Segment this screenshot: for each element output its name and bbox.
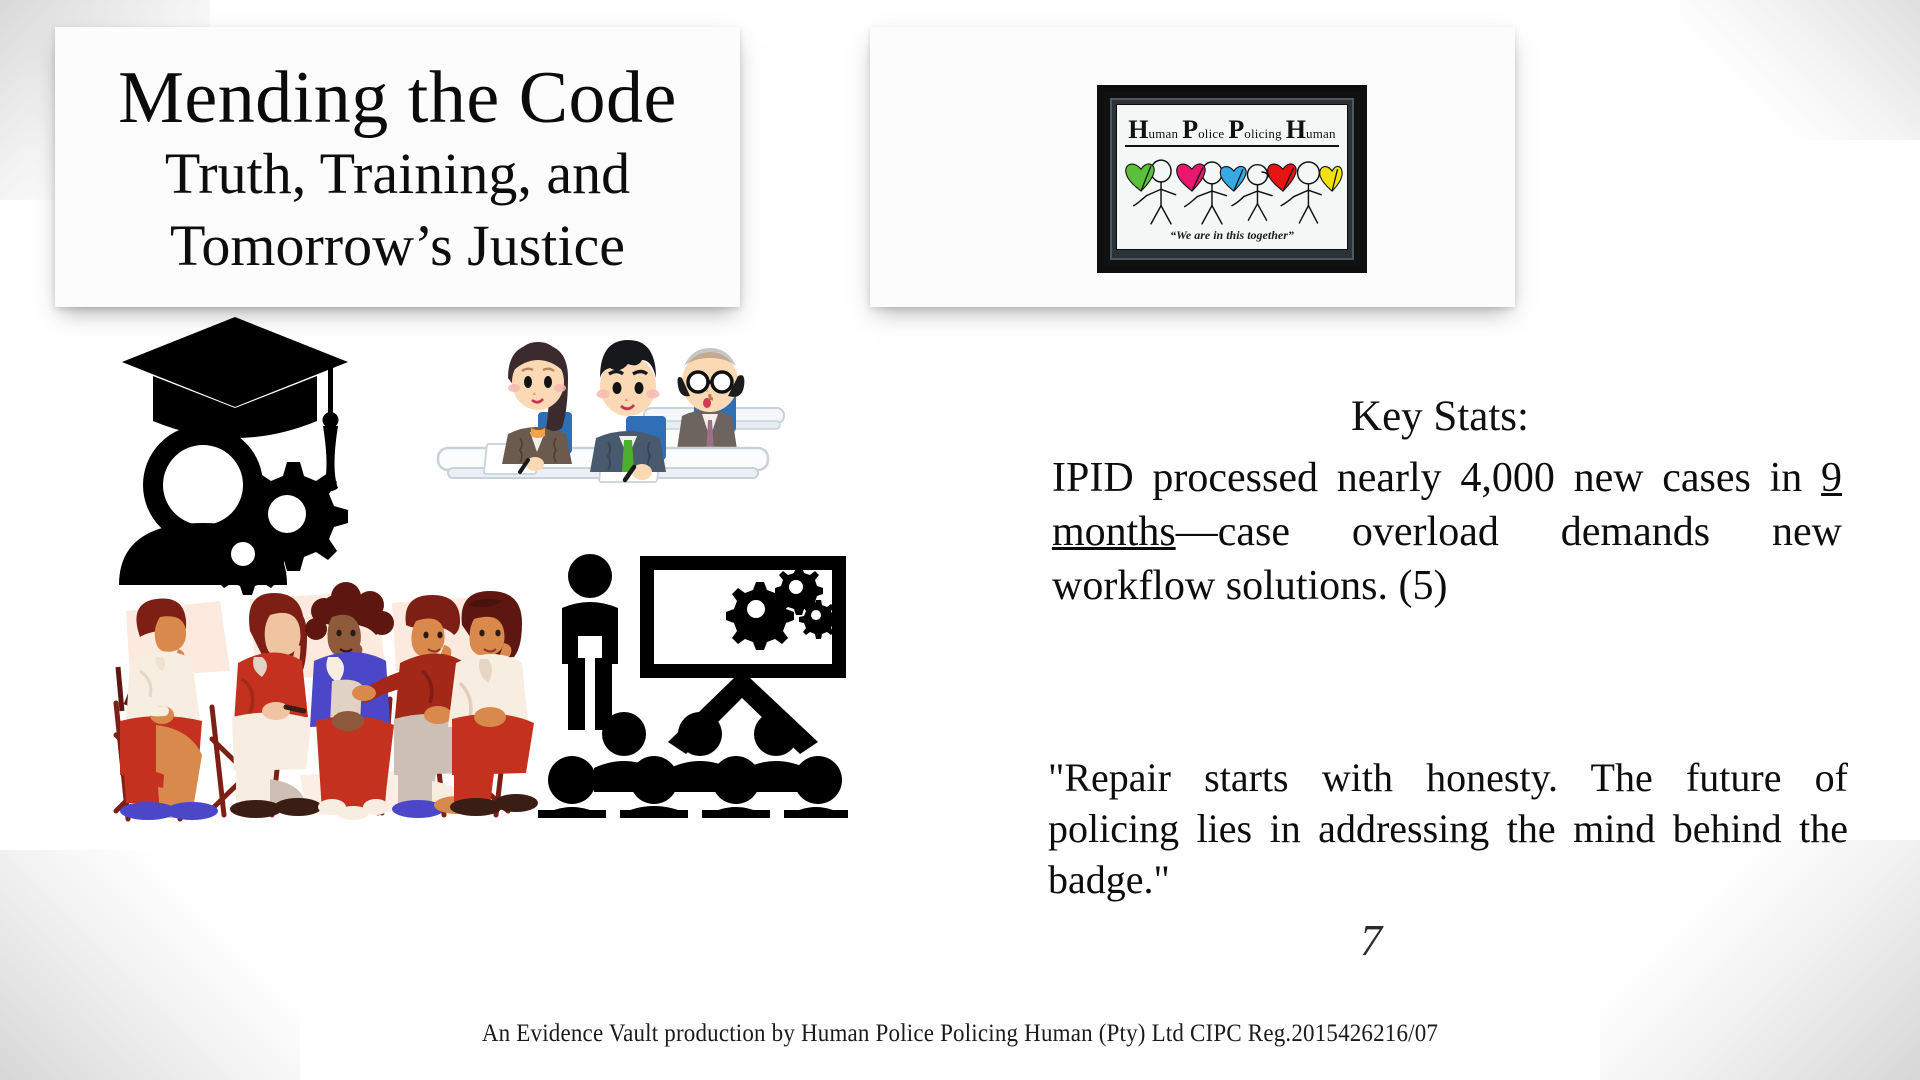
quote-text: "Repair starts with honesty. The future …: [1048, 752, 1848, 906]
page-subtitle-line2: Tomorrow’s Justice: [55, 213, 740, 279]
logo-initial-1: H: [1128, 115, 1148, 144]
logo-initial-4: H: [1286, 115, 1306, 144]
logo-word-2: olice: [1198, 126, 1224, 141]
page-edge-shadow-topright: [1680, 0, 1920, 140]
trainee-1: [502, 342, 572, 472]
logo-wordmark: Human Police Policing Human: [1125, 115, 1339, 147]
logo-plate: Human Police Policing Human: [1116, 104, 1348, 250]
support-group-circle-illustration: [100, 575, 530, 820]
trainee-3: [676, 348, 744, 456]
footer-credit: An Evidence Vault production by Human Po…: [77, 1020, 1843, 1048]
logo-tagline: “We are in this together”: [1117, 228, 1347, 243]
presenter-whiteboard-audience-icon: [528, 552, 848, 817]
logo-word-3: olicing: [1244, 126, 1282, 141]
stick-figures-holding-hands-icon: [1121, 149, 1343, 235]
page-title: Mending the Code: [55, 61, 740, 135]
key-stats-heading: Key Stats:: [1030, 392, 1850, 441]
logo-card: Human Police Policing Human: [870, 27, 1515, 307]
slide-canvas: Mending the Code Truth, Training, and To…: [0, 0, 1920, 1080]
logo-initial-3: P: [1228, 115, 1244, 144]
title-card: Mending the Code Truth, Training, and To…: [55, 27, 740, 307]
key-stats-pre: IPID processed nearly 4,000 new cases in: [1052, 455, 1821, 501]
key-stats-body: IPID processed nearly 4,000 new cases in…: [1052, 452, 1842, 613]
logo-word-1: uman: [1149, 126, 1179, 141]
graduation-cap-person-gear-icon: [105, 300, 350, 590]
classroom-trainees-illustration: [430, 320, 800, 570]
hpph-logo-frame: Human Police Policing Human: [1097, 85, 1367, 273]
logo-word-4: uman: [1306, 126, 1336, 141]
logo-stick-figures: [1121, 149, 1343, 235]
slide-number: 7: [1360, 915, 1382, 966]
logo-initial-2: P: [1182, 115, 1198, 144]
page-subtitle-line1: Truth, Training, and: [55, 141, 740, 207]
